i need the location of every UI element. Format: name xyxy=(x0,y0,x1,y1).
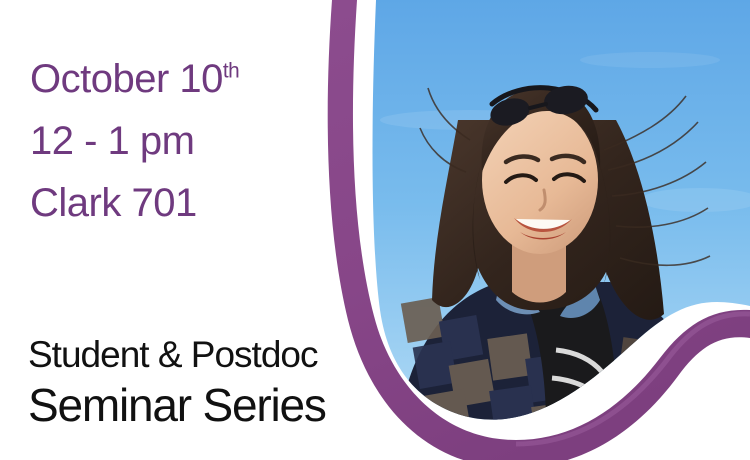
series-title-line-2: Seminar Series xyxy=(28,378,388,432)
event-date: October 10th xyxy=(30,48,360,110)
series-title-line-1: Student & Postdoc xyxy=(28,332,388,378)
speaker-photo xyxy=(360,0,750,460)
event-date-ordinal: th xyxy=(223,60,239,83)
series-title: Student & Postdoc Seminar Series xyxy=(28,332,388,432)
event-date-text: October 10 xyxy=(30,57,223,101)
seminar-banner: October 10th 12 - 1 pm Clark 701 Student… xyxy=(0,0,750,460)
event-details: October 10th 12 - 1 pm Clark 701 xyxy=(30,48,360,234)
event-time: 12 - 1 pm xyxy=(30,110,360,172)
event-location: Clark 701 xyxy=(30,172,360,234)
